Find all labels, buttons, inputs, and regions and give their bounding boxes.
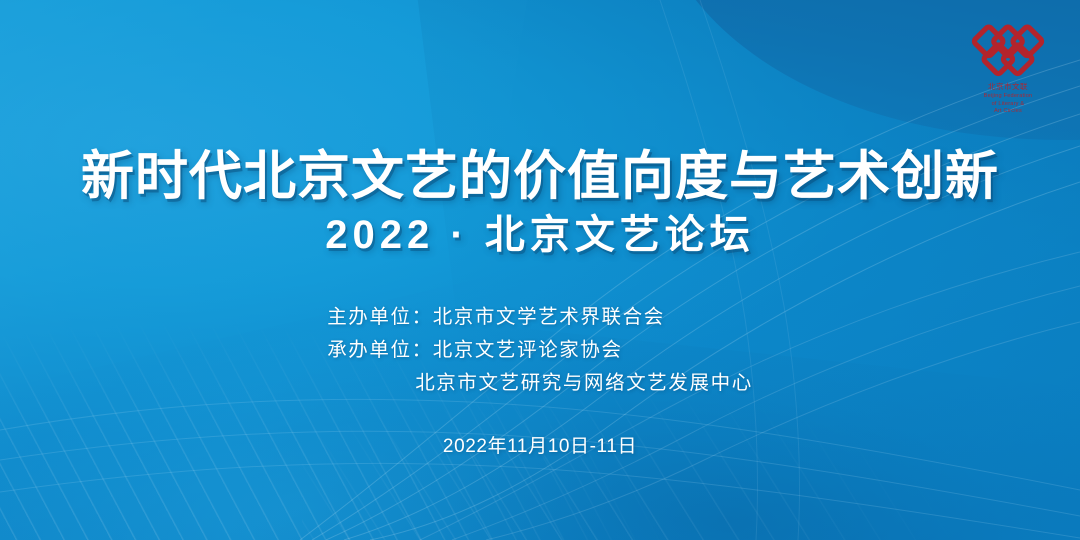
logo-name-en-line3: Art Circles: [954, 108, 1062, 115]
logo-name-en-line2: of Literary &: [954, 101, 1062, 108]
poster-title-main: 新时代北京文艺的价值向度与艺术创新: [81, 148, 999, 205]
forum-poster: 北京市文联 Beijing Federation of Literary & A…: [0, 0, 1080, 540]
event-date: 2022年11月10日-11日: [443, 431, 637, 458]
organizer-line: 承办单位：北京文艺评论家协会: [327, 335, 753, 368]
logo-name-en-line1: Beijing Federation: [954, 93, 1062, 100]
organizer-line: 主办单位：北京市文学艺术界联合会: [327, 302, 753, 335]
logo-name-cn: 北京市文联: [954, 83, 1062, 91]
logo-name-en: Beijing Federation of Literary & Art Cir…: [954, 93, 1062, 115]
organizer-block: 主办单位：北京市文学艺术界联合会 承办单位：北京文艺评论家协会 北京市文艺研究与…: [327, 302, 753, 400]
organizer-line: 北京市文艺研究与网络文艺发展中心: [327, 368, 753, 401]
poster-content: 新时代北京文艺的价值向度与艺术创新 2022 · 北京文艺论坛 主办单位：北京市…: [0, 0, 1080, 540]
interlocking-diamond-knot-icon: [969, 22, 1047, 80]
poster-title-sub: 2022 · 北京文艺论坛: [325, 213, 755, 258]
organization-logo: 北京市文联 Beijing Federation of Literary & A…: [954, 22, 1062, 115]
